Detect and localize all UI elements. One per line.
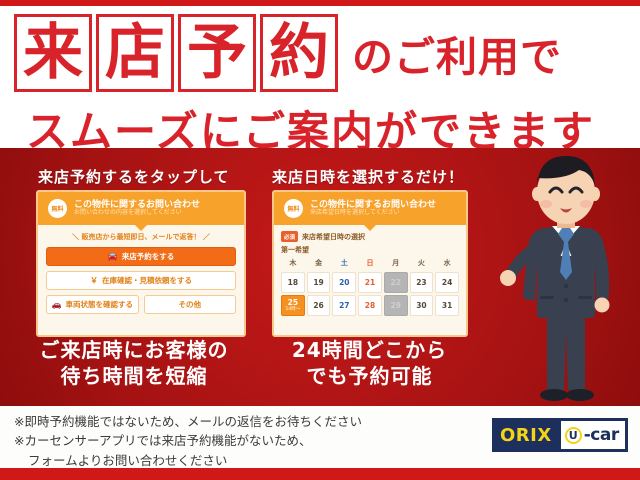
footer-notes: ※即時予約機能ではないため、メールの返信をお待ちください ※カーセンサーアプリで… [14, 412, 362, 470]
other-button[interactable]: その他 [144, 295, 237, 314]
calendar-day-number: 21 [365, 279, 375, 287]
right-caption-line-2: でも予約可能 [262, 364, 477, 390]
mockup-header-subtitle: お問い合わせの内容を選択してください [74, 210, 200, 217]
left-caption-line-2: 待ち時間を短縮 [14, 364, 254, 390]
calendar-day-cell[interactable]: 2514時～ [281, 295, 305, 316]
required-tag: 必須 [281, 231, 298, 242]
orix-ucar-logo: ORIX U -car [492, 418, 628, 452]
left-panel-title: 来店予約するをタップして [38, 166, 230, 187]
bottom-accent-bar [0, 468, 640, 480]
right-caption: 24時間どこから でも予約可能 [262, 338, 477, 389]
salesman-illustration [500, 150, 632, 408]
footer-note-2: ※カーセンサーアプリでは来店予約機能がないため、 [14, 431, 362, 450]
calendar-day-number: 31 [442, 302, 452, 310]
calendar-day-number: 30 [416, 302, 426, 310]
left-caption-line-1: ご来店時にお客様の [14, 338, 254, 364]
calendar-weekday-月: 月 [384, 258, 408, 270]
calendar-day-cell[interactable]: 28 [358, 295, 382, 316]
calendar-day-number: 29 [390, 302, 400, 310]
calendar-day-number: 22 [390, 279, 400, 287]
calendar-day-cell[interactable]: 27 [332, 295, 356, 316]
preference-label: 第一希望 [281, 245, 459, 255]
calendar-day-cell[interactable]: 21 [358, 272, 382, 293]
reserve-visit-button[interactable]: 🚘 来店予約をする [46, 247, 236, 266]
calendar-day-time: 14時～ [285, 308, 300, 313]
car-outline-icon: 🚗 [52, 300, 62, 309]
calendar-day-cell[interactable]: 18 [281, 272, 305, 293]
vehicle-condition-button[interactable]: 🚗 車両状態を確認する [46, 295, 139, 314]
calendar-day-number: 26 [313, 302, 323, 310]
right-panel-title: 来店日時を選択するだけ！ [272, 166, 464, 187]
calendar-day-number: 28 [365, 302, 375, 310]
calendar-day-cell[interactable]: 19 [307, 272, 331, 293]
calendar-header-subtitle: 来店希望日時を選択してください [310, 210, 436, 217]
calendar-day-cell[interactable]: 20 [332, 272, 356, 293]
calendar-weekday-金: 金 [307, 258, 331, 270]
calendar-day-cell[interactable]: 26 [307, 295, 331, 316]
calendar-day-number: 25 [288, 299, 298, 307]
stock-estimate-label: 在庫確認・見積依頼をする [102, 275, 192, 286]
calendar-grid[interactable]: 木金土日月火水181920212223242514時～262728293031 [281, 258, 459, 316]
kanji-box-2: 店 [96, 14, 174, 92]
yen-icon: ￥ [90, 275, 98, 286]
calendar-day-number: 18 [288, 279, 298, 287]
calendar-day-cell[interactable]: 24 [435, 272, 459, 293]
calendar-required-row: 必須 来店希望日時の選択 [281, 231, 459, 242]
secondary-button-row: 🚗 車両状態を確認する その他 [46, 295, 236, 319]
calendar-weekday-土: 土 [332, 258, 356, 270]
promo-poster: 来 店 予 約 のご利用で スムーズにご案内ができます 来店予約するをタップして… [0, 0, 640, 480]
calendar-day-number: 20 [339, 279, 349, 287]
kanji-box-1: 来 [14, 14, 92, 92]
calendar-day-cell: 29 [384, 295, 408, 316]
calendar-mockup: 無料 この物件に関するお問い合わせ 来店希望日時を選択してください 必須 来店希… [272, 190, 468, 337]
free-badge: 無料 [284, 199, 303, 218]
mockup-header-bar: 無料 この物件に関するお問い合わせ お問い合わせの内容を選択してください [38, 192, 244, 225]
calendar-day-cell[interactable]: 31 [435, 295, 459, 316]
calendar-weekday-火: 火 [410, 258, 434, 270]
calendar-header-bar: 無料 この物件に関するお問い合わせ 来店希望日時を選択してください [274, 192, 466, 225]
free-badge: 無料 [48, 199, 67, 218]
calendar-weekday-日: 日 [358, 258, 382, 270]
headline-section: 来 店 予 約 のご利用で スムーズにご案内ができます [0, 6, 640, 148]
u-circle-icon: U [565, 427, 582, 444]
required-label: 来店希望日時の選択 [302, 232, 365, 242]
stock-estimate-button[interactable]: ￥ 在庫確認・見積依頼をする [46, 271, 236, 290]
orix-wordmark: ORIX [493, 419, 559, 451]
kanji-box-3: 予 [178, 14, 256, 92]
calendar-day-cell: 22 [384, 272, 408, 293]
left-caption: ご来店時にお客様の 待ち時間を短縮 [14, 338, 254, 389]
calendar-header-text: この物件に関するお問い合わせ 来店希望日時を選択してください [310, 200, 436, 217]
kanji-box-4: 約 [260, 14, 338, 92]
other-label: その他 [179, 299, 202, 310]
calendar-day-cell[interactable]: 30 [410, 295, 434, 316]
calendar-day-number: 27 [339, 302, 349, 310]
calendar-weekday-水: 水 [435, 258, 459, 270]
vehicle-condition-label: 車両状態を確認する [65, 299, 133, 310]
headline-tail-text: のご利用で [352, 23, 562, 83]
inquiry-form-mockup: 無料 この物件に関するお問い合わせ お問い合わせの内容を選択してください ＼ 販… [36, 190, 246, 337]
calendar-day-cell[interactable]: 23 [410, 272, 434, 293]
calendar-day-number: 19 [313, 279, 323, 287]
right-caption-line-1: 24時間どこから [262, 338, 477, 364]
mockup-header-text: この物件に関するお問い合わせ お問い合わせの内容を選択してください [74, 200, 200, 217]
car-icon: 🚘 [108, 252, 118, 261]
calendar-weekday-木: 木 [281, 258, 305, 270]
calendar-day-number: 24 [442, 279, 452, 287]
salesman-svg [500, 150, 632, 408]
footer-note-1: ※即時予約機能ではないため、メールの返信をお待ちください [14, 412, 362, 431]
reserve-visit-label: 来店予約をする [122, 251, 175, 262]
car-text: -car [584, 425, 619, 445]
headline-row-1: 来 店 予 約 のご利用で [14, 14, 562, 92]
calendar-body: 必須 来店希望日時の選択 第一希望 木金土日月火水181920212223242… [274, 225, 466, 316]
ucar-wordmark: U -car [561, 421, 625, 449]
calendar-day-number: 23 [416, 279, 426, 287]
inquiry-button-group: 🚘 来店予約をする ￥ 在庫確認・見積依頼をする 🚗 車両状態を確認する その他 [38, 247, 244, 319]
